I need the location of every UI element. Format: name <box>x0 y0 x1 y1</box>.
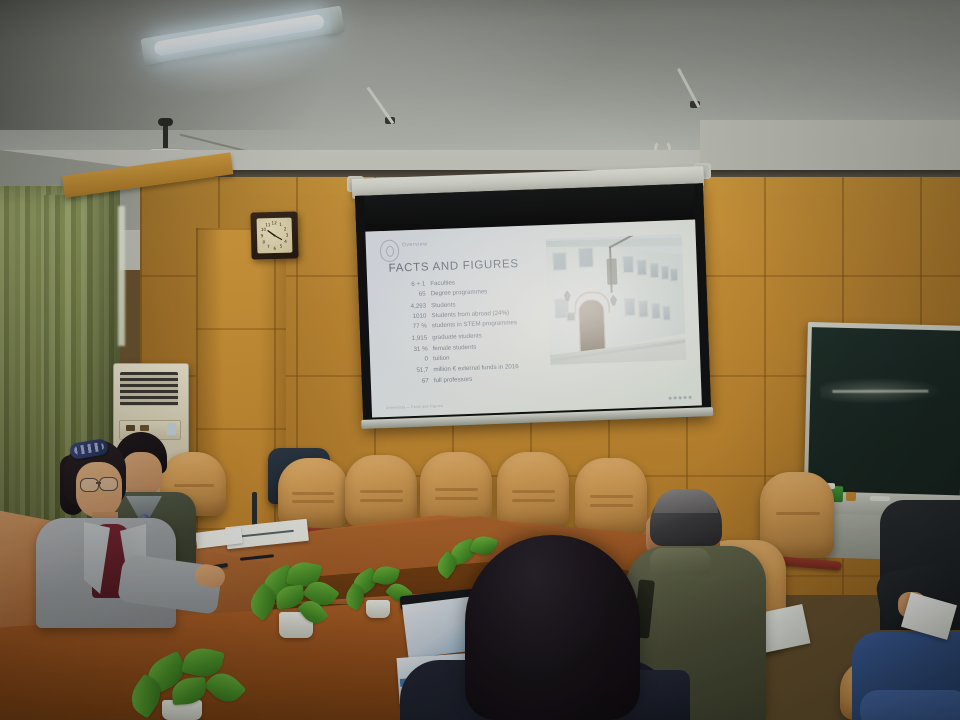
page-dot <box>679 397 682 400</box>
svg-text:7: 7 <box>267 244 270 249</box>
svg-text:1: 1 <box>279 222 282 227</box>
svg-text:12: 12 <box>271 220 277 225</box>
ac-indicator-light-2 <box>140 425 149 431</box>
eyeglasses-lens-right <box>99 477 118 491</box>
eyeglasses-bridge <box>96 482 101 484</box>
fact-number: 1010 <box>382 313 431 321</box>
air-conditioner-vent <box>120 372 178 406</box>
fact-label: students in STEM programmes <box>432 321 517 330</box>
fact-number: 6 + 1 <box>381 281 430 289</box>
fact-number: 65 <box>382 292 431 300</box>
svg-text:4: 4 <box>284 239 287 244</box>
slide-page-indicator <box>669 396 692 399</box>
page-dot <box>674 397 677 400</box>
slide-kicker: Overview <box>402 241 428 248</box>
ac-badge <box>167 423 176 435</box>
svg-text:10: 10 <box>261 227 267 232</box>
svg-text:2: 2 <box>284 226 287 231</box>
chalk-line <box>832 390 928 393</box>
fact-label: Degree programmes <box>431 290 488 298</box>
svg-text:8: 8 <box>262 239 265 244</box>
fact-label: graduate students <box>432 333 482 341</box>
fact-number: 31 % <box>384 346 433 354</box>
fact-label: female students <box>433 344 477 352</box>
fact-number: 67 <box>385 378 434 386</box>
presentation-slide: Overview FACTS AND FIGURES 6 + 1Facultie… <box>365 220 702 418</box>
svg-text:11: 11 <box>265 222 271 227</box>
fact-number: 1,915 <box>383 335 432 343</box>
tray-item-tan[interactable] <box>846 492 856 501</box>
fact-label: Students from abroad (24%) <box>431 310 509 319</box>
university-seal-icon <box>380 239 400 262</box>
eyeglasses-lens-left <box>80 478 99 492</box>
slide-title: FACTS AND FIGURES <box>388 258 518 275</box>
projection-screen: Overview FACTS AND FIGURES 6 + 1Facultie… <box>355 183 711 428</box>
svg-text:9: 9 <box>261 233 264 238</box>
clock-minute-hand <box>275 235 282 239</box>
svg-text:6: 6 <box>273 246 276 251</box>
window-light-gap <box>118 206 125 346</box>
page-dot <box>669 397 672 400</box>
fact-label: tuition <box>433 356 450 363</box>
speaker-mount-knob <box>158 118 173 126</box>
slide-photo-building <box>546 234 687 365</box>
page-dot <box>689 396 692 399</box>
fact-label: million € external funds in 2016 <box>433 364 518 373</box>
fact-number: 51,7 <box>384 368 433 376</box>
wall-clock: 1212 345 678 91011 <box>250 211 298 259</box>
slide-footer: Universität — Facts and Figures <box>386 404 444 410</box>
svg-text:5: 5 <box>280 244 283 249</box>
speaker-mount-rod <box>163 122 168 150</box>
plant-pot-2 <box>366 600 390 618</box>
ac-indicator-light <box>126 425 135 431</box>
tray-chalk[interactable] <box>870 496 890 502</box>
chalkboard-surface[interactable] <box>808 327 960 503</box>
fact-number: 0 <box>384 356 433 364</box>
svg-text:3: 3 <box>286 233 289 238</box>
fact-label: Students <box>431 302 456 309</box>
fact-number: 77 % <box>383 324 432 332</box>
fact-label: full professors <box>434 377 473 385</box>
fact-number: 4,293 <box>382 303 431 311</box>
clock-hour-hand <box>268 231 274 236</box>
fact-label: Faculties <box>430 280 455 287</box>
room-photo: 1212 345 678 91011 <box>0 0 960 720</box>
page-dot <box>684 396 687 399</box>
